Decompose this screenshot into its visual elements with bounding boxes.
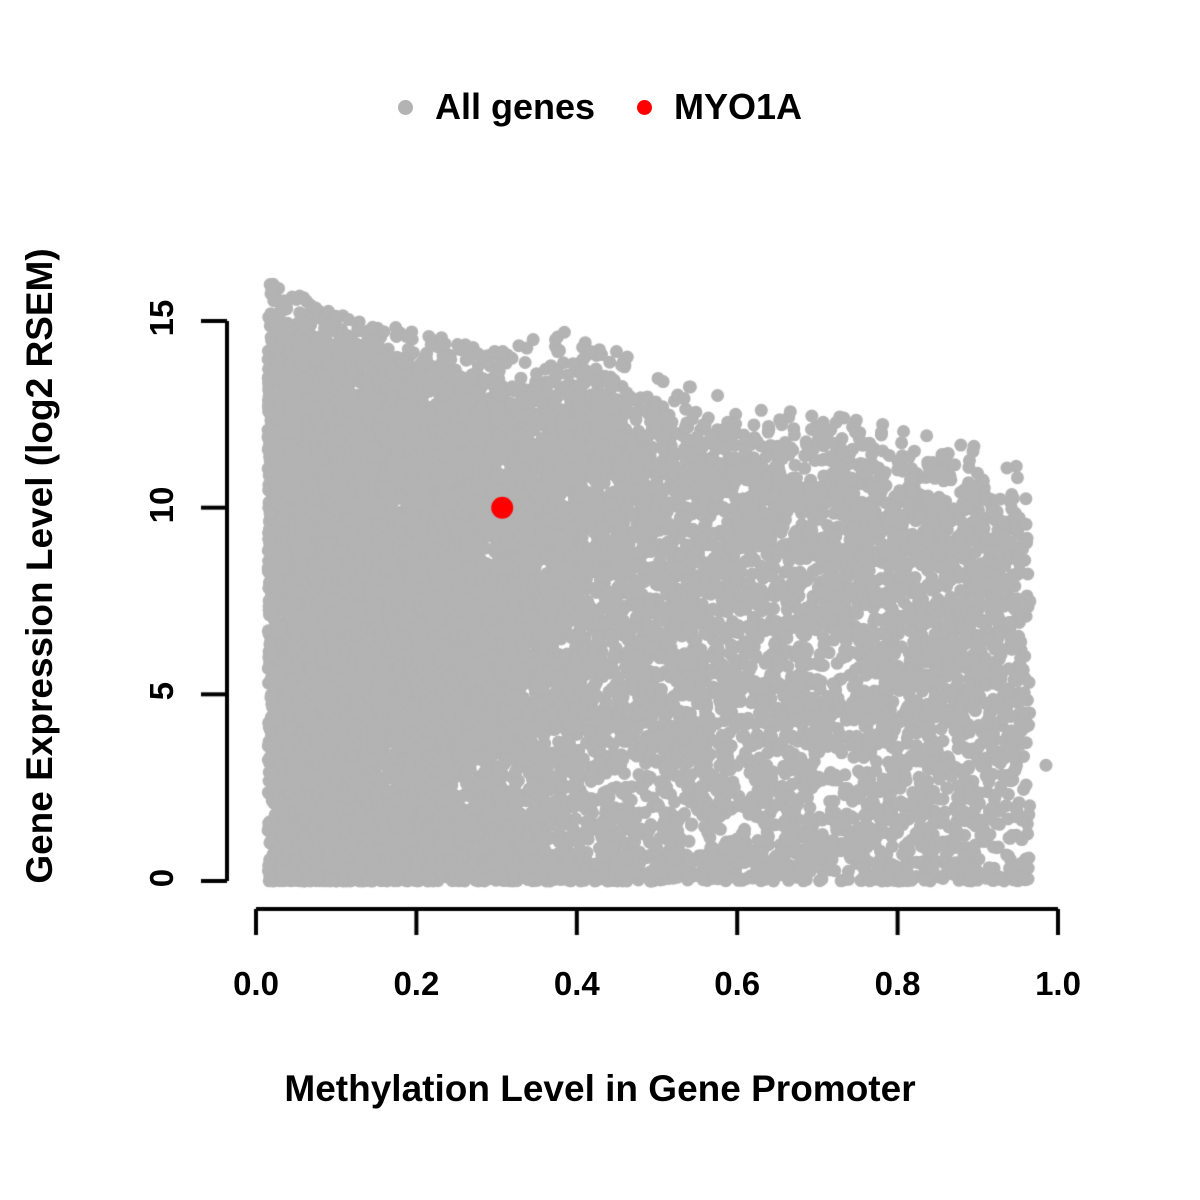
scatter-plot-canvas (0, 0, 1200, 1200)
scatter-plot-figure: All genes MYO1A 0.00.20.40.60.81.0 05101… (0, 0, 1200, 1200)
